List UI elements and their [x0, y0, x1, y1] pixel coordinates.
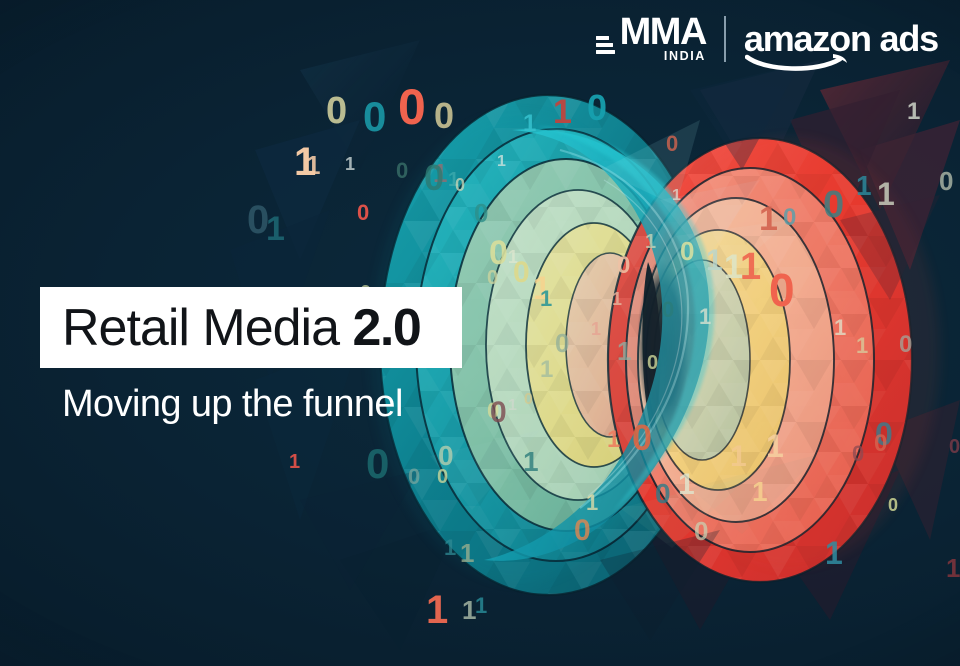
- binary-digit: 0: [574, 516, 591, 546]
- binary-digit: 1: [612, 290, 622, 308]
- binary-digit: 0: [357, 202, 369, 224]
- amazon-smile-icon: [745, 52, 857, 74]
- page-subtitle: Moving up the funnel: [62, 383, 403, 426]
- mma-logo-text: MMA: [620, 16, 706, 49]
- title-band: Retail Media 2.0: [40, 287, 462, 368]
- binary-digit: 1: [591, 320, 601, 338]
- binary-digit: 0: [396, 160, 408, 182]
- binary-digit: 0: [655, 480, 671, 508]
- binary-digit: 0: [326, 92, 347, 130]
- binary-digit: 0: [852, 443, 864, 465]
- binary-digit: 0: [366, 443, 389, 485]
- poster-canvas: 0000111001110010001001101011101001110010…: [0, 0, 960, 666]
- binary-digit: 1: [607, 428, 620, 452]
- page-title: Retail Media 2.0: [62, 302, 420, 354]
- binary-digit: 1: [444, 537, 456, 559]
- binary-digit: 1: [497, 154, 506, 170]
- binary-digit: 1: [645, 232, 656, 252]
- binary-digit: 0: [783, 206, 796, 230]
- binary-digit: 0: [666, 133, 678, 155]
- binary-digit: 0: [632, 420, 652, 456]
- binary-digit: 0: [489, 236, 508, 270]
- binary-digit: 1: [856, 172, 872, 200]
- binary-digit: 1: [766, 430, 784, 462]
- binary-digit: 0: [434, 98, 454, 134]
- binary-digit: 0: [694, 518, 708, 544]
- binary-digit: 0: [487, 268, 498, 288]
- binary-digit: 1: [523, 112, 536, 136]
- binary-digit: 0: [490, 398, 507, 428]
- binary-digit: 0: [513, 258, 530, 288]
- binary-digit: 0: [587, 90, 607, 126]
- binary-digit: 1: [289, 452, 300, 472]
- binary-digit: 0: [823, 186, 844, 224]
- binary-digit: 0: [769, 267, 795, 313]
- mma-india-logo[interactable]: MMA INDIA: [596, 16, 706, 63]
- binary-digit: 1: [553, 95, 572, 129]
- amazon-ads-logo[interactable]: amazon ads: [744, 21, 938, 57]
- binary-digit: 0: [899, 333, 912, 357]
- binary-digit: 1: [523, 448, 539, 476]
- binary-digit: 0: [617, 254, 630, 278]
- mma-wordmark: MMA INDIA: [620, 16, 706, 63]
- binary-digit: 1: [672, 188, 681, 204]
- binary-digit: 0: [424, 160, 444, 196]
- binary-digit: 1: [856, 335, 868, 357]
- binary-digit: 1: [759, 202, 778, 236]
- binary-digit: 0: [398, 82, 426, 132]
- logo-divider: [724, 16, 726, 62]
- binary-digit: 1: [460, 540, 474, 566]
- binary-digit: 0: [888, 496, 898, 514]
- binary-digit: 1: [540, 288, 552, 310]
- binary-digit: 0: [455, 176, 465, 194]
- mma-bars-icon: [596, 36, 615, 63]
- binary-digit: 0: [662, 299, 674, 321]
- binary-digit: 1: [345, 155, 355, 173]
- binary-digit: 1: [678, 470, 695, 500]
- binary-digit: 0: [555, 330, 569, 356]
- binary-digit: 0: [408, 466, 420, 488]
- logo-bar: MMA INDIA amazon ads: [596, 16, 938, 63]
- binary-digit: 1: [508, 398, 517, 414]
- binary-digit: 1: [877, 178, 895, 210]
- binary-digit: 0: [363, 96, 386, 138]
- binary-digit: 0: [939, 168, 953, 194]
- page-title-bold: 2.0: [352, 299, 420, 357]
- binary-digit: 1: [834, 317, 846, 339]
- binary-digit: 1: [266, 212, 285, 246]
- binary-digit: 1: [540, 358, 553, 382]
- binary-digit: 1: [730, 442, 747, 472]
- binary-digit: 0: [524, 392, 533, 408]
- binary-digit: 0: [949, 437, 960, 457]
- binary-digit: 1: [306, 152, 320, 178]
- binary-digit: 0: [647, 353, 658, 373]
- binary-digit: 1: [740, 248, 761, 286]
- binary-digit: 1: [946, 555, 960, 581]
- binary-digit: 0: [874, 432, 887, 456]
- binary-digit: 1: [475, 595, 487, 617]
- binary-digit: 0: [474, 200, 488, 226]
- page-title-regular: Retail Media: [62, 299, 352, 357]
- binary-digit: 1: [586, 492, 598, 514]
- binary-digit: 1: [752, 478, 768, 506]
- binary-digit: 1: [825, 537, 843, 569]
- binary-digit: 1: [426, 590, 448, 630]
- binary-digit: 1: [617, 338, 631, 364]
- binary-digit: 1: [706, 246, 723, 276]
- binary-digit: 0: [680, 238, 694, 264]
- binary-digit: 1: [699, 306, 711, 328]
- binary-digit: 1: [907, 100, 920, 124]
- binary-digit: 0: [437, 467, 448, 487]
- mma-logo-subtext: INDIA: [664, 50, 706, 63]
